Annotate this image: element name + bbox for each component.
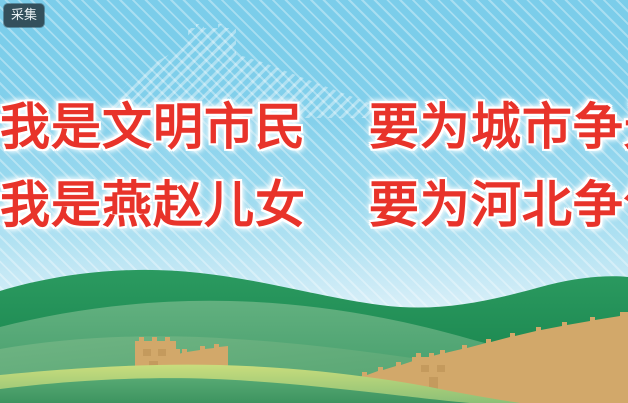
banner-screenshot: 我是文明市民 要为城市争光 我是燕赵儿女 要为河北争气 采集 [0,0,628,403]
headline-line-2-left: 我是燕赵儿女 [0,166,306,244]
headline-line-2: 我是燕赵儿女 要为河北争气 [0,166,628,244]
headline-line-1-left: 我是文明市民 [0,88,306,166]
headline-line-2-right: 要为河北争气 [369,166,628,244]
rolling-green-hills [0,253,628,403]
capture-button[interactable]: 采集 [4,4,44,27]
headline-block: 我是文明市民 要为城市争光 我是燕赵儿女 要为河北争气 [0,88,628,244]
headline-line-1: 我是文明市民 要为城市争光 [0,88,628,166]
headline-line-1-right: 要为城市争光 [369,88,628,166]
